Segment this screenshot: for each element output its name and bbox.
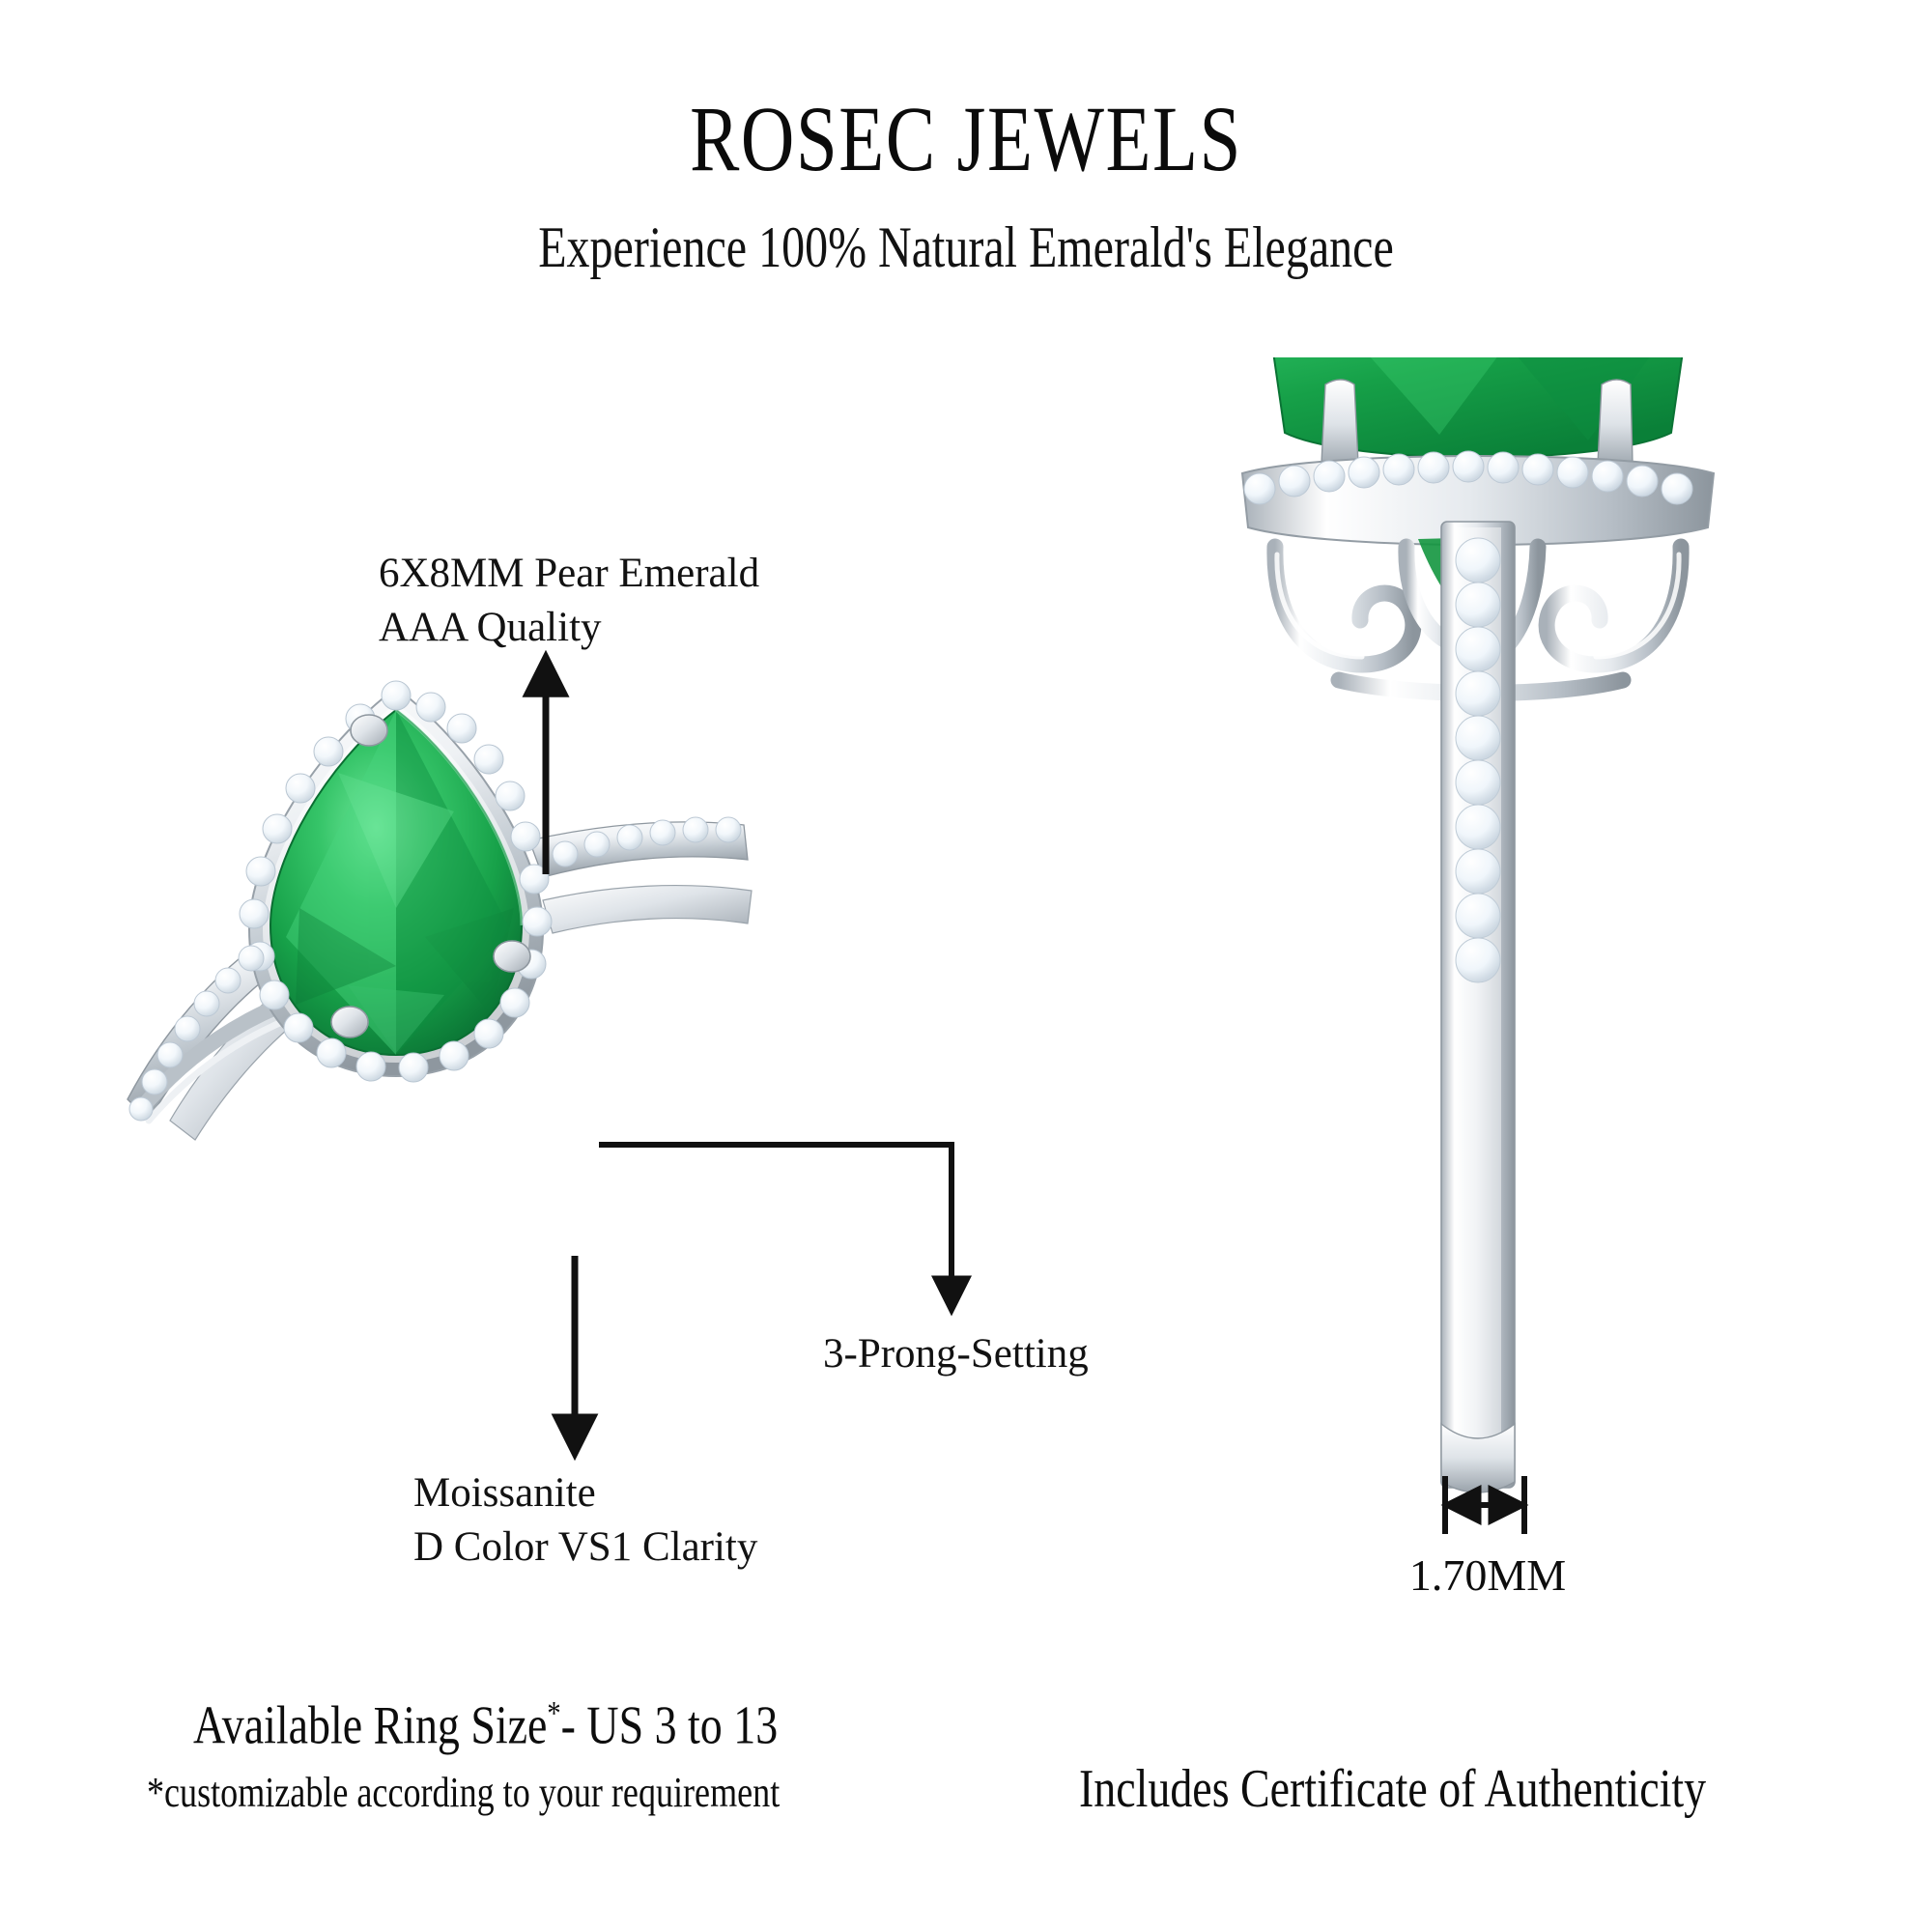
callout-prong-label: 3-Prong-Setting [823,1327,1089,1381]
brand-tagline: Experience 100% Natural Emerald's Elegan… [193,214,1739,281]
size-asterisk: * [547,1694,560,1732]
callout-moissanite-label: Moissanite D Color VS1 Clarity [413,1466,757,1575]
callout-gem-label: 6X8MM Pear Emerald AAA Quality [379,547,759,655]
dimension-label: 1.70MM [1381,1549,1594,1601]
product-infographic: ROSEC JEWELS Experience 100% Natural Eme… [0,0,1932,1932]
ring-front-view [106,618,898,1159]
size-prefix: Available Ring Size [193,1696,547,1756]
brand-title: ROSEC JEWELS [193,85,1739,192]
ring-side-view [1217,357,1739,1497]
size-suffix: - US 3 to 13 [561,1696,779,1756]
available-ring-size: Available Ring Size*- US 3 to 13 [193,1694,778,1757]
certificate-note: Includes Certificate of Authenticity [1079,1758,1706,1820]
ring-size-note: *customizable according to your requirem… [147,1768,780,1817]
arrow-prong [599,1145,952,1306]
